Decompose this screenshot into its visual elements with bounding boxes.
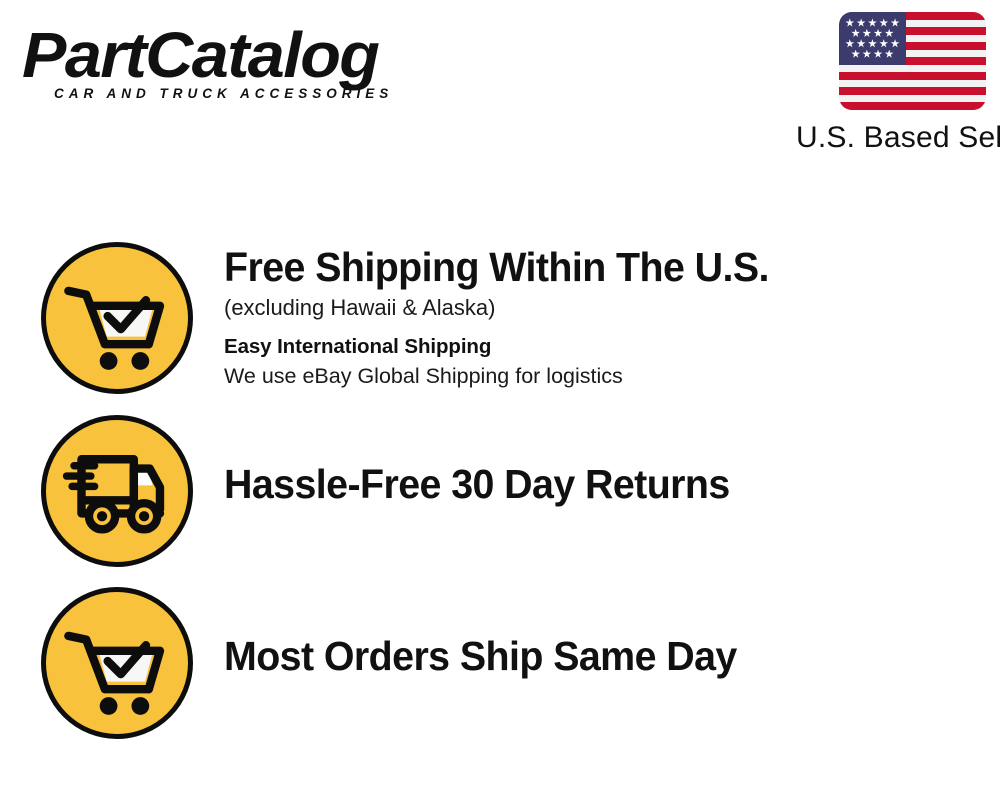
shipping-info-banner: PartCatalog CAR AND TRUCK ACCESSORIES — [0, 0, 1000, 800]
shopping-cart-check-icon — [41, 242, 193, 394]
star-icon — [879, 18, 888, 27]
star-icon — [845, 39, 854, 48]
feature-row: Free Shipping Within The U.S. (excluding… — [0, 242, 1000, 394]
star-icon — [857, 18, 866, 27]
feature-text-block: Free Shipping Within The U.S. (excluding… — [193, 242, 1000, 390]
seller-label: U.S. Based Seller — [796, 121, 986, 155]
feature-row: Hassle-Free 30 Day Returns — [0, 415, 1000, 567]
flag-star-row — [843, 29, 902, 38]
feature-text-block: Hassle-Free 30 Day Returns — [193, 415, 1000, 508]
brand-wordmark: PartCatalog — [22, 22, 511, 88]
flag-star-row — [843, 18, 902, 27]
star-icon — [885, 29, 894, 38]
us-flag-icon — [839, 12, 986, 110]
feature-row: Most Orders Ship Same Day — [0, 587, 1000, 739]
star-icon — [851, 29, 860, 38]
star-icon — [891, 18, 900, 27]
us-based-seller-badge: U.S. Based Seller — [796, 12, 986, 155]
delivery-truck-icon — [41, 415, 193, 567]
star-icon — [862, 50, 871, 59]
feature-headline: Most Orders Ship Same Day — [224, 633, 969, 680]
star-icon — [874, 50, 883, 59]
flag-star-row — [843, 39, 902, 48]
feature-note: (excluding Hawaii & Alaska) — [224, 294, 1000, 322]
star-icon — [879, 39, 888, 48]
star-icon — [885, 50, 894, 59]
star-icon — [845, 18, 854, 27]
star-icon — [857, 39, 866, 48]
banner-header: PartCatalog CAR AND TRUCK ACCESSORIES — [0, 0, 1000, 175]
feature-subtext: We use eBay Global Shipping for logistic… — [224, 363, 1000, 390]
shopping-cart-check-icon — [41, 587, 193, 739]
star-icon — [891, 39, 900, 48]
flag-star-row — [843, 50, 902, 59]
star-icon — [868, 39, 877, 48]
feature-subheading: Easy International Shipping — [224, 334, 1000, 360]
flag-canton — [839, 12, 906, 65]
star-icon — [862, 29, 871, 38]
star-icon — [851, 50, 860, 59]
brand-logo: PartCatalog CAR AND TRUCK ACCESSORIES — [22, 22, 492, 101]
star-icon — [874, 29, 883, 38]
feature-text-block: Most Orders Ship Same Day — [193, 587, 1000, 680]
feature-headline: Free Shipping Within The U.S. — [224, 244, 969, 291]
feature-headline: Hassle-Free 30 Day Returns — [224, 461, 969, 508]
star-icon — [868, 18, 877, 27]
